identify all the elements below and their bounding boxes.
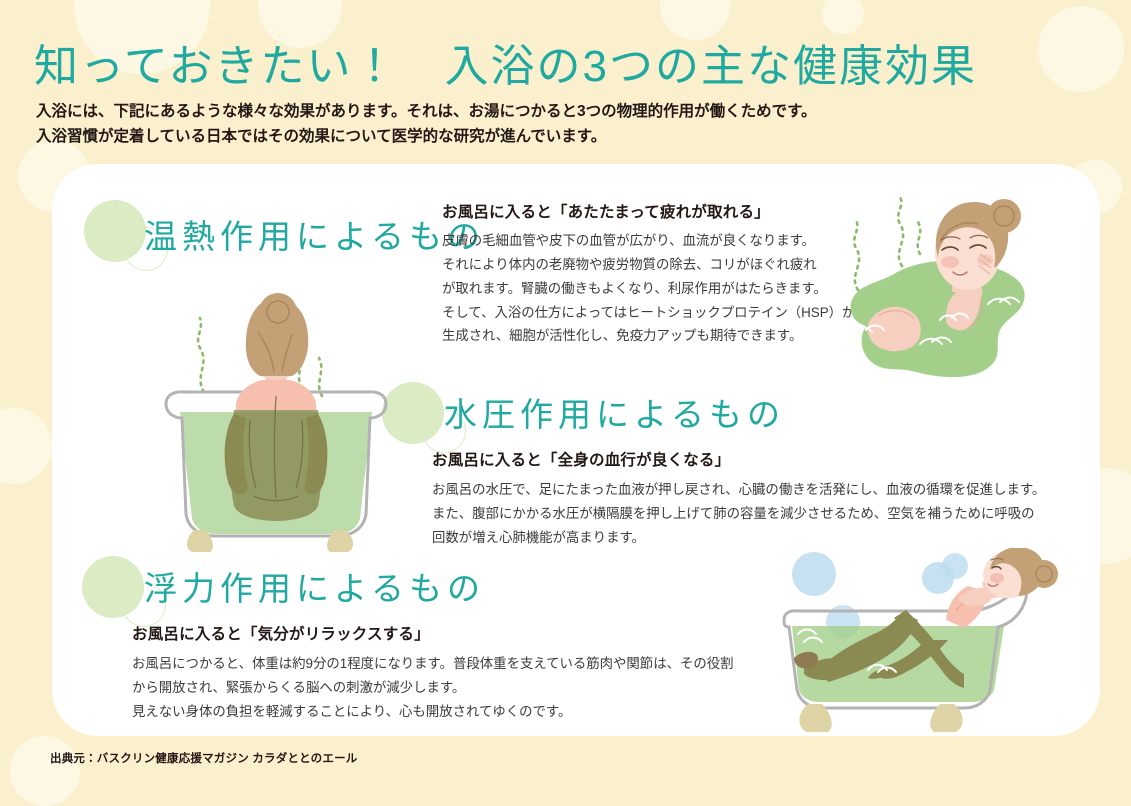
body-line: が取れます。腎臓の働きもよくなり、利尿作用がはたらきます。	[442, 277, 862, 301]
background-circle	[0, 408, 52, 484]
source-note: 出典元：バスクリン健康応援マガジン カラダととのエール	[50, 750, 357, 766]
section-heading-buoyancy: 浮力作用によるもの	[144, 562, 782, 610]
body-line: から開放され、緊張からくる脳への刺激が減少します。	[132, 676, 752, 700]
body-line: 皮膚の毛細血管や皮下の血管が広がり、血流が良くなります。	[442, 229, 862, 253]
section-body-pressure: お風呂の水圧で、足にたまった血液が押し戻され、心臓の働きを活発にし、血液の循環を…	[432, 478, 1052, 550]
body-line: それにより体内の老廃物や疲労物質の除去、コリがほぐれ疲れ	[442, 253, 862, 277]
intro-paragraph: 入浴には、下記にあるような様々な効果があります。それは、お湯につかると3つの物理…	[36, 99, 976, 149]
background-circle	[10, 736, 80, 806]
body-line: そして、入浴の仕方によってはヒートショックプロテイン（HSP）が	[442, 301, 862, 325]
section-text-buoyancy: お風呂に入ると「気分がリラックスする」 お風呂につかると、体重は約9分の1程度に…	[132, 622, 752, 724]
decorative-blob-icon	[82, 556, 144, 618]
section-thermal: 温熱作用によるもの お風呂に入ると「あたたまって疲れが取れる」 皮膚の毛細血管や…	[82, 196, 702, 258]
bubble	[792, 552, 836, 596]
section-text-pressure: お風呂に入ると「全身の血行が良くなる」 お風呂の水圧で、足にたまった血液が押し戻…	[432, 448, 1052, 550]
page-title: 知っておきたい！ 入浴の3つの主な健康効果	[34, 30, 977, 94]
body-line: お風呂につかると、体重は約9分の1程度になります。普段体重を支えている筋肉や関節…	[132, 652, 752, 676]
intro-line: 入浴習慣が定着している日本ではその効果について医学的な研究が進んでいます。	[36, 124, 976, 149]
section-subheading-pressure: お風呂に入ると「全身の血行が良くなる」	[432, 448, 1052, 470]
illustration-tub-back-view	[150, 292, 402, 554]
body-line: 回数が増え心肺機能が高まります。	[432, 526, 1052, 550]
body-line: また、腹部にかかる水圧が横隔膜を押し上げて肺の容量を減少させるため、空気を補うた…	[432, 502, 1052, 526]
illustration-tub-side-view	[742, 548, 1078, 742]
illustration-woman-soaking	[828, 192, 1118, 412]
section-body-thermal: 皮膚の毛細血管や皮下の血管が広がり、血流が良くなります。 それにより体内の老廃物…	[442, 229, 862, 348]
section-body-buoyancy: お風呂につかると、体重は約9分の1程度になります。普段体重を支えている筋肉や関節…	[132, 652, 752, 724]
section-subheading-thermal: お風呂に入ると「あたたまって疲れが取れる」	[442, 200, 862, 222]
decorative-blob-icon	[84, 200, 146, 262]
intro-line: 入浴には、下記にあるような様々な効果があります。それは、お湯につかると3つの物理…	[36, 99, 976, 124]
body-line: お風呂の水圧で、足にたまった血液が押し戻され、心臓の働きを活発にし、血液の循環を…	[432, 478, 1052, 502]
section-subheading-buoyancy: お風呂に入ると「気分がリラックスする」	[132, 622, 752, 644]
section-text-thermal: お風呂に入ると「あたたまって疲れが取れる」 皮膚の毛細血管や皮下の血管が広がり、…	[442, 200, 862, 348]
section-buoyancy: 浮力作用によるもの お風呂に入ると「気分がリラックスする」 お風呂につかると、体…	[82, 550, 782, 724]
background-circle	[1038, 6, 1124, 92]
background-circle	[822, 0, 864, 34]
body-line: 生成され、細胞が活性化し、免疫力アップも期待できます。	[442, 324, 862, 348]
bubble	[942, 553, 968, 579]
body-line: 見えない身体の負担を軽減することにより、心も開放されてゆくのです。	[132, 700, 752, 724]
